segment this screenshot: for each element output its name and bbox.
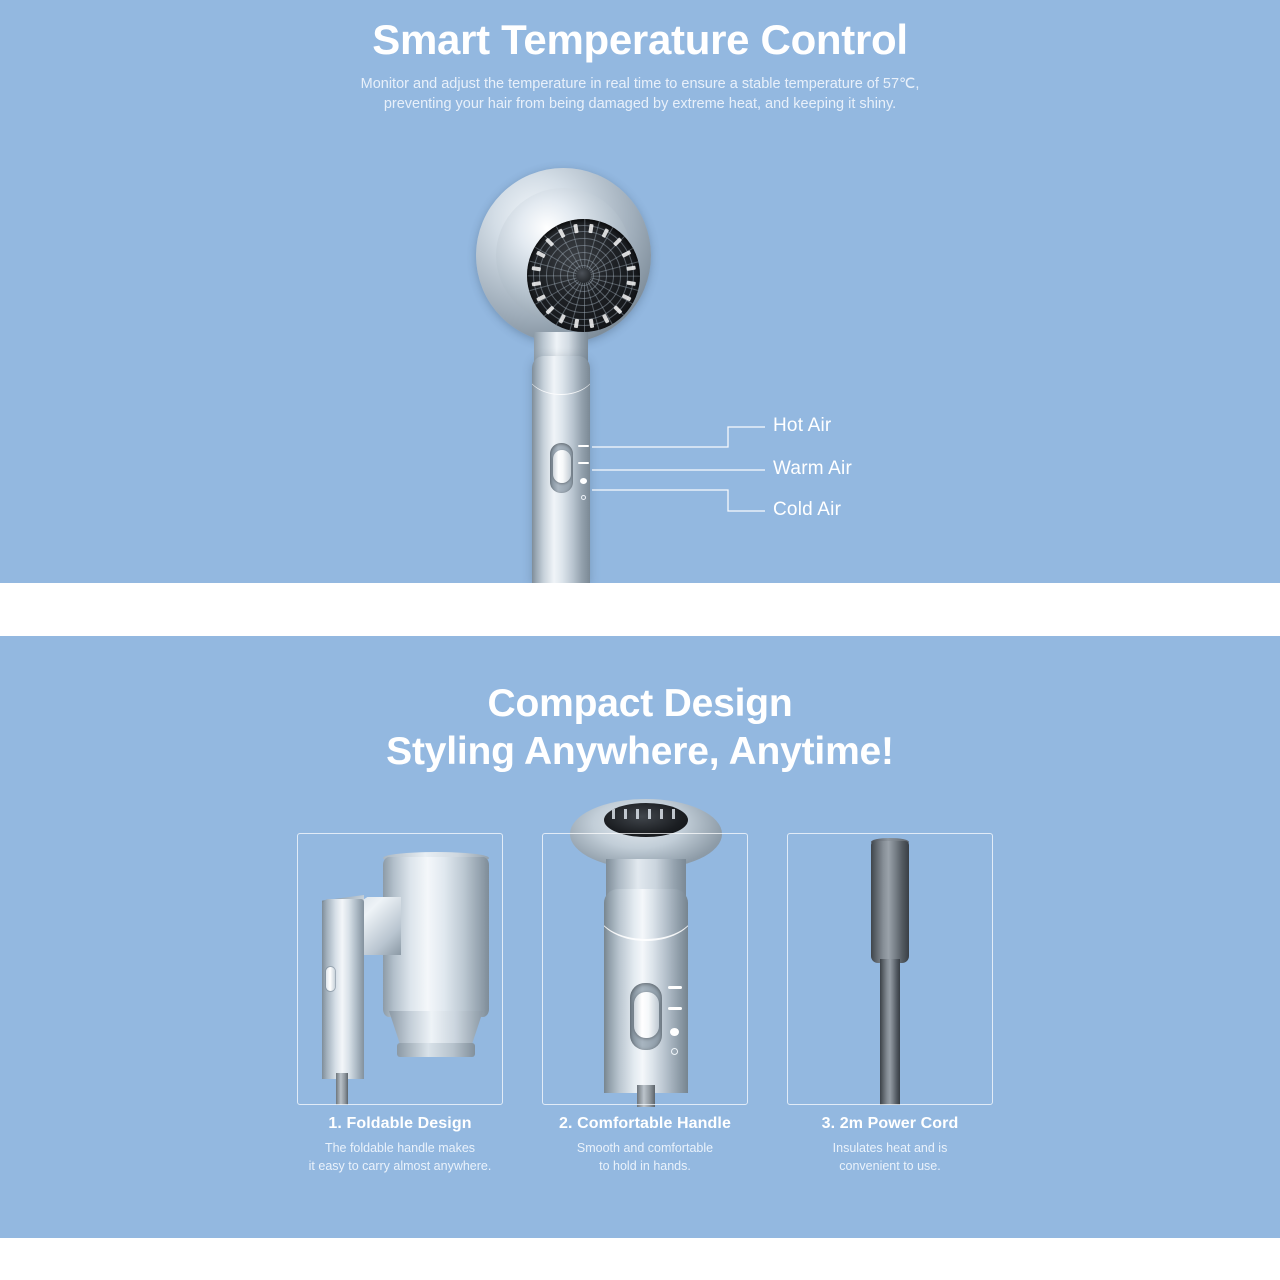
dryer-mode-switch-knob[interactable]	[553, 450, 571, 483]
feature-card-power-cord[interactable]: 3. 2m Power Cord Insulates heat and is c…	[787, 833, 993, 1105]
mode-mark-hot	[578, 445, 589, 447]
section1-subtitle: Monitor and adjust the temperature in re…	[0, 74, 1280, 114]
section1-subtitle-line2: preventing your hair from being damaged …	[0, 94, 1280, 114]
mode-mark-warm	[578, 462, 589, 464]
grille-tick	[626, 281, 635, 286]
feature-cards: 1. Foldable Design The foldable handle m…	[0, 833, 1280, 1233]
dryer-mode-indicator-marks	[578, 445, 592, 501]
grille-spoke	[584, 276, 585, 333]
grille-tick	[626, 266, 635, 271]
feature-card-desc-line2: it easy to carry almost anywhere.	[275, 1157, 525, 1175]
grille-spoke	[584, 275, 640, 276]
feature-card-desc-line1: Smooth and comfortable	[520, 1139, 770, 1157]
section2-title-line2: Styling Anywhere, Anytime!	[0, 728, 1280, 776]
grille-tick	[574, 318, 579, 327]
feature-card-frame	[542, 833, 748, 1105]
callout-label-cold-air: Cold Air	[773, 499, 841, 521]
feature-card-frame	[297, 833, 503, 1105]
feature-card-description: The foldable handle makes it easy to car…	[275, 1139, 525, 1175]
section1-title: Smart Temperature Control	[0, 16, 1280, 64]
feature-card-desc-line1: The foldable handle makes	[275, 1139, 525, 1157]
closeup-dryer-grille	[604, 803, 688, 837]
callout-label-hot-air: Hot Air	[773, 415, 831, 437]
dryer-air-grille	[527, 219, 640, 332]
feature-card-desc-line2: to hold in hands.	[520, 1157, 770, 1175]
section2-title: Compact Design Styling Anywhere, Anytime…	[0, 680, 1280, 776]
compact-design-section: Compact Design Styling Anywhere, Anytime…	[0, 636, 1280, 1238]
mode-mark-cold	[580, 478, 587, 484]
dryer-head-inner-ring	[496, 188, 631, 323]
feature-card-title: 1. Foldable Design	[275, 1115, 525, 1133]
smart-temperature-control-section: Smart Temperature Control Monitor and ad…	[0, 0, 1280, 583]
feature-card-comfortable-handle[interactable]: 2. Comfortable Handle Smooth and comfort…	[542, 833, 748, 1105]
feature-card-foldable-design[interactable]: 1. Foldable Design The foldable handle m…	[297, 833, 503, 1105]
section1-subtitle-line1: Monitor and adjust the temperature in re…	[0, 74, 1280, 94]
feature-card-frame	[787, 833, 993, 1105]
dryer-mode-switch[interactable]	[550, 443, 573, 493]
bottom-white-strip	[0, 1238, 1280, 1280]
section2-title-line1: Compact Design	[0, 680, 1280, 728]
feature-card-title: 3. 2m Power Cord	[765, 1115, 1015, 1133]
callout-label-warm-air: Warm Air	[773, 458, 852, 480]
dryer-head-outer-ring	[476, 168, 651, 343]
grille-hub	[576, 268, 591, 283]
feature-card-desc-line2: convenient to use.	[765, 1157, 1015, 1175]
hair-dryer-illustration	[468, 160, 688, 583]
mode-mark-off	[581, 495, 586, 500]
grille-tick	[531, 281, 540, 286]
feature-card-title: 2. Comfortable Handle	[520, 1115, 770, 1133]
section-divider	[0, 583, 1280, 636]
feature-card-description: Smooth and comfortable to hold in hands.	[520, 1139, 770, 1175]
feature-card-desc-line1: Insulates heat and is	[765, 1139, 1015, 1157]
feature-card-description: Insulates heat and is convenient to use.	[765, 1139, 1015, 1175]
grille-tick	[531, 266, 540, 271]
